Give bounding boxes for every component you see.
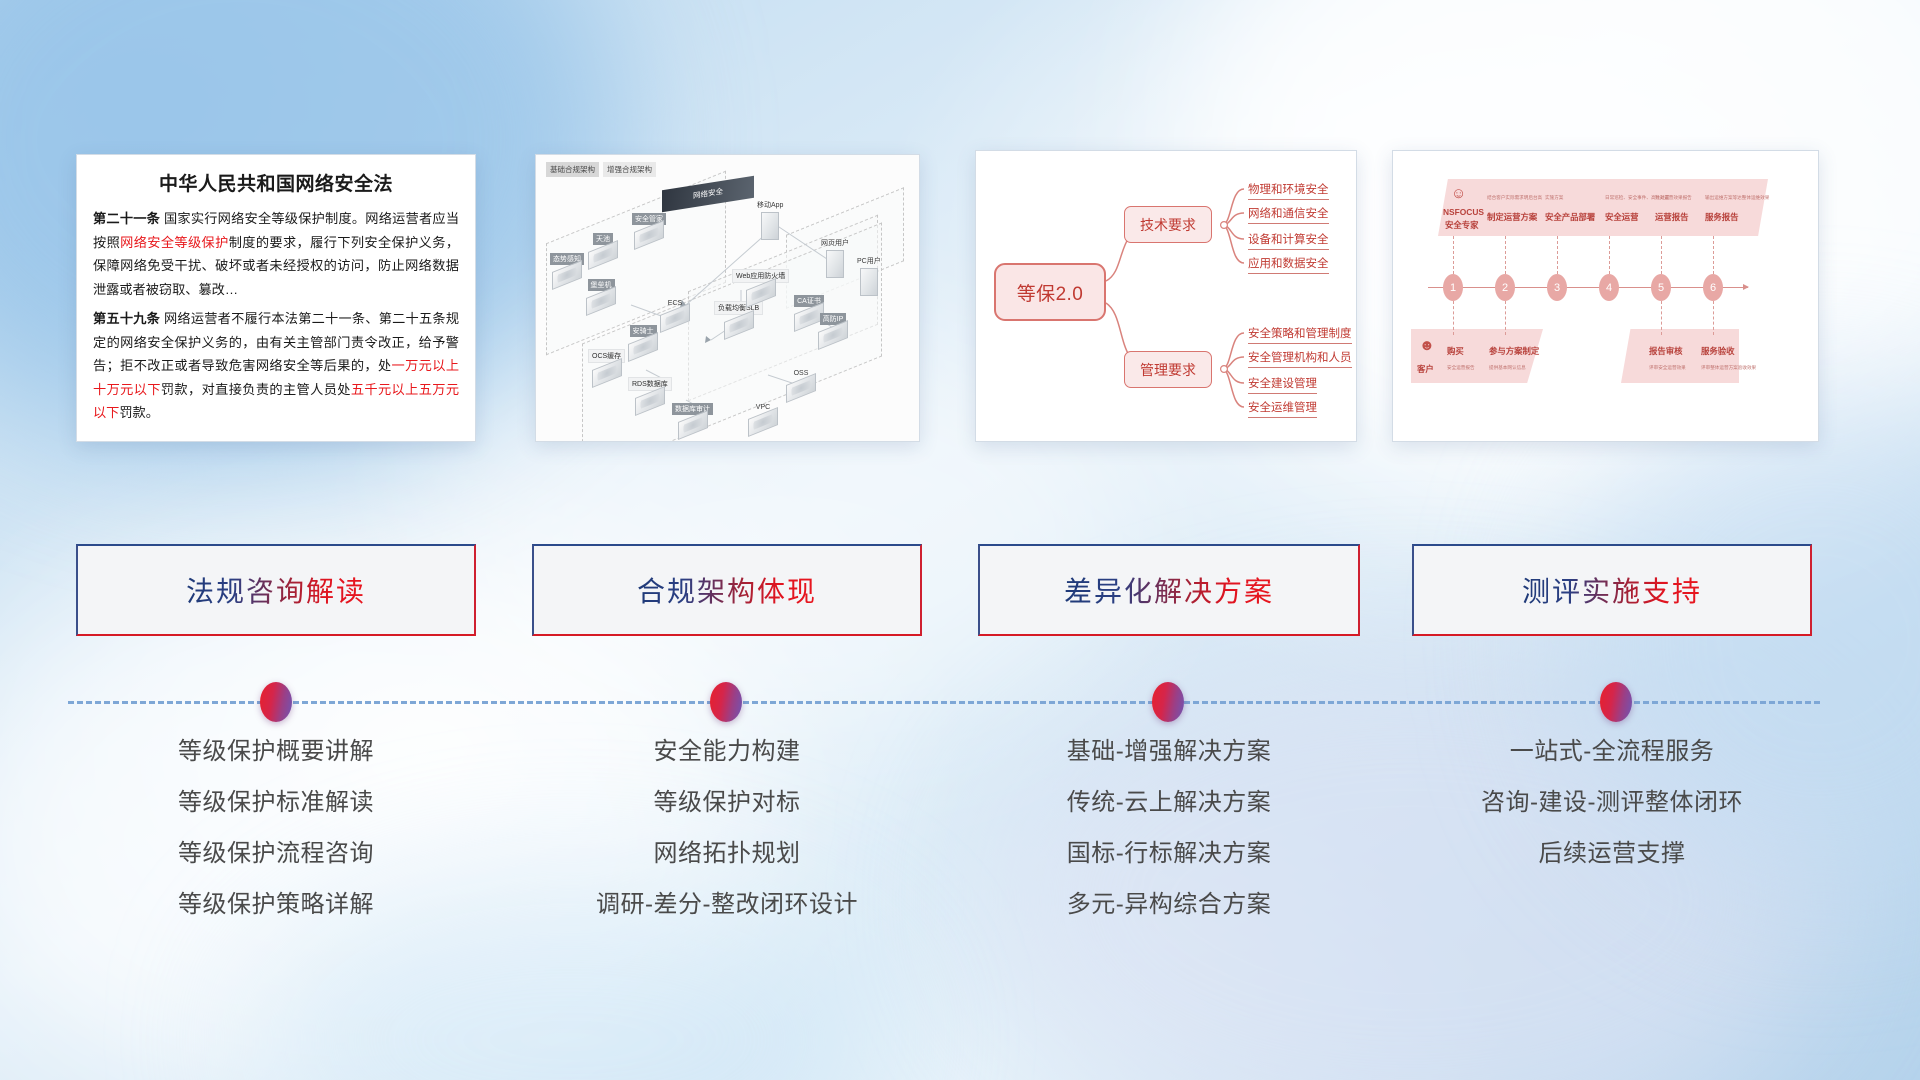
- roadmap-top-label: 制定运营方案: [1487, 211, 1537, 223]
- section-header-4[interactable]: 测评实施支持: [1412, 544, 1812, 636]
- roadmap-bottom-sublabel: 提供基本网认信息: [1489, 365, 1526, 371]
- section-item: 传统-云上解决方案: [978, 791, 1360, 815]
- mindmap-leaf: 安全建设管理: [1248, 375, 1317, 394]
- roadmap-connector: [1505, 301, 1506, 335]
- law-paragraph: 第二十一条 国家实行网络安全等级保护制度。网络运营者应当按照网络安全等级保护制度…: [93, 207, 459, 301]
- roadmap-top-sublabel: 针对运营效果报告: [1655, 195, 1692, 201]
- section-item-list-1: 等级保护概要讲解等级保护标准解读等级保护流程咨询等级保护策略详解: [76, 740, 476, 944]
- roadmap-step-2[interactable]: 2: [1495, 274, 1515, 301]
- section-header-4-label: 测评实施支持: [1522, 570, 1702, 610]
- section-item: 国标-行标解决方案: [978, 842, 1360, 866]
- customer-icon: ☻: [1419, 337, 1435, 354]
- roadmap-top-label: 运营报告: [1655, 211, 1689, 223]
- mindmap-diagram: 等保2.0 技术要求 管理要求 物理和环境安全网络和通信安全设备和计算安全应用和…: [976, 151, 1356, 441]
- architecture-node-label: PC用户: [854, 255, 884, 267]
- mindmap-leaf: 应用和数据安全: [1248, 255, 1329, 274]
- roadmap-top-sublabel: 结合客户实际需求明后台高: [1487, 195, 1542, 201]
- law-text-run: 罚款。: [119, 405, 159, 420]
- law-highlight-run: 网络安全等级保护: [120, 235, 229, 250]
- architecture-node: 天池: [588, 233, 618, 264]
- architecture-node: 堡垒机: [586, 279, 616, 310]
- roadmap-connector: [1453, 236, 1454, 274]
- timeline: [0, 672, 1920, 732]
- roadmap-bottom-label: 报告审核: [1649, 345, 1683, 357]
- section-item: 等级保护对标: [532, 791, 922, 815]
- roadmap-step-3[interactable]: 3: [1547, 274, 1567, 301]
- roadmap-connector: [1453, 301, 1454, 335]
- customer-name: 客户: [1417, 363, 1434, 375]
- architecture-node-label: RDS数据库: [628, 377, 672, 391]
- section-item-list-4: 一站式-全流程服务咨询-建设-测评整体闭环后续运营支撑: [1412, 740, 1812, 893]
- architecture-node: OSS: [786, 369, 816, 397]
- law-preview-card[interactable]: 中华人民共和国网络安全法 第二十一条 国家实行网络安全等级保护制度。网络运营者应…: [76, 154, 476, 442]
- roadmap-connector: [1557, 236, 1558, 274]
- section-header-1[interactable]: 法规咨询解读: [76, 544, 476, 636]
- mindmap-leaf: 安全策略和管理制度: [1248, 325, 1352, 344]
- section-header-2-label: 合规架构体现: [637, 570, 817, 610]
- architecture-node: PC用户: [854, 255, 884, 296]
- section-item-list-3: 基础-增强解决方案传统-云上解决方案国标-行标解决方案多元-异构综合方案: [978, 740, 1360, 944]
- timeline-dot-4[interactable]: [1600, 682, 1632, 722]
- architecture-node: 移动App: [754, 199, 786, 240]
- architecture-tab[interactable]: 基础合规架构: [546, 162, 599, 177]
- server-icon: [826, 250, 844, 278]
- security-expert-icon: ☺: [1451, 185, 1466, 202]
- roadmap-connector: [1609, 236, 1610, 274]
- roadmap-top-label: 服务报告: [1705, 211, 1739, 223]
- section-item: 后续运营支撑: [1412, 842, 1812, 866]
- roadmap-provider-band: [1438, 179, 1768, 236]
- law-paragraph: 第五十九条 网络运营者不履行本法第二十一条、第二十五条规定的网络安全保护义务的，…: [93, 307, 459, 425]
- roadmap-diagram: ☺ NSFOCUS 安全专家 ☻ 客户 123456 结合客户实际需求明后台高制…: [1393, 151, 1818, 441]
- architecture-node: OCS缓存: [588, 349, 625, 382]
- roadmap-bottom-label: 购买: [1447, 345, 1464, 357]
- provider-name-line2: 安全专家: [1445, 219, 1479, 231]
- mindmap-preview-card[interactable]: 等保2.0 技术要求 管理要求 物理和环境安全网络和通信安全设备和计算安全应用和…: [975, 150, 1357, 442]
- section-header-2[interactable]: 合规架构体现: [532, 544, 922, 636]
- law-article-number: 第五十九条: [93, 311, 160, 326]
- roadmap-connector: [1661, 236, 1662, 274]
- roadmap-step-4[interactable]: 4: [1599, 274, 1619, 301]
- mindmap-leaf: 网络和通信安全: [1248, 205, 1329, 224]
- mindmap-collapse-handle: [1221, 222, 1228, 229]
- section-header-1-label: 法规咨询解读: [186, 570, 366, 610]
- law-title: 中华人民共和国网络安全法: [93, 169, 459, 196]
- poster-canvas: 中华人民共和国网络安全法 第二十一条 国家实行网络安全等级保护制度。网络运营者应…: [0, 0, 1920, 1080]
- mindmap-leaf: 安全管理机构和人员: [1248, 349, 1352, 368]
- architecture-node: 数据库审计: [672, 403, 713, 434]
- architecture-node: Web应用防火墙: [732, 269, 789, 302]
- roadmap-bottom-label: 参与方案制定: [1489, 345, 1539, 357]
- mindmap-branch-management: 管理要求: [1124, 351, 1212, 388]
- mindmap-leaf: 设备和计算安全: [1248, 231, 1329, 250]
- architecture-node: 高防IP: [818, 313, 848, 344]
- timeline-dashed-line: [68, 701, 1820, 704]
- section-item: 调研-差分-整改闭环设计: [532, 893, 922, 917]
- section-item: 安全能力构建: [532, 740, 922, 764]
- server-icon: [761, 212, 779, 240]
- architecture-node: VPC: [748, 403, 778, 431]
- architecture-node: 安全管家: [632, 213, 666, 244]
- mindmap-collapse-handle: [1221, 366, 1228, 373]
- roadmap-step-5[interactable]: 5: [1651, 274, 1671, 301]
- roadmap-connector: [1713, 301, 1714, 335]
- architecture-tab[interactable]: 增强合规架构: [603, 162, 656, 177]
- roadmap-bottom-sublabel: 评审整体运营方案验收效果: [1701, 365, 1756, 371]
- roadmap-bottom-sublabel: 安全运营报告: [1447, 365, 1475, 371]
- roadmap-preview-card[interactable]: ☺ NSFOCUS 安全专家 ☻ 客户 123456 结合客户实际需求明后台高制…: [1392, 150, 1819, 442]
- section-header-3[interactable]: 差异化解决方案: [978, 544, 1360, 636]
- architecture-node-label: 网页用户: [818, 237, 852, 249]
- roadmap-top-label: 安全产品部署: [1545, 211, 1595, 223]
- law-text-run: 罚款，对直接负责的主管人员处: [161, 382, 351, 397]
- architecture-node: 态势感知: [550, 253, 584, 284]
- architecture-node: 网页用户: [818, 237, 852, 278]
- provider-name-line1: NSFOCUS: [1443, 207, 1484, 217]
- timeline-dot-2[interactable]: [710, 682, 742, 722]
- preview-card-row: 中华人民共和国网络安全法 第二十一条 国家实行网络安全等级保护制度。网络运营者应…: [0, 0, 1920, 470]
- roadmap-axis: [1428, 287, 1748, 288]
- mindmap-root-node: 等保2.0: [994, 263, 1106, 321]
- roadmap-bottom-sublabel: 评审安全运营效果: [1649, 365, 1686, 371]
- roadmap-step-1[interactable]: 1: [1443, 274, 1463, 301]
- law-article-number: 第二十一条: [93, 211, 160, 226]
- section-item: 等级保护标准解读: [76, 791, 476, 815]
- mindmap-branch-technical: 技术要求: [1124, 206, 1212, 243]
- architecture-preview-card[interactable]: 基础合规架构增强合规架构 网络安全: [535, 154, 920, 442]
- roadmap-connector: [1505, 236, 1506, 274]
- section-item-lists: 等级保护概要讲解等级保护标准解读等级保护流程咨询等级保护策略详解 安全能力构建等…: [0, 740, 1920, 1000]
- section-item: 咨询-建设-测评整体闭环: [1412, 791, 1812, 815]
- architecture-node: 安骑士: [628, 325, 658, 356]
- section-item: 多元-异构综合方案: [978, 893, 1360, 917]
- server-icon: [860, 268, 878, 296]
- architecture-tab-group[interactable]: 基础合规架构增强合规架构: [546, 162, 656, 177]
- roadmap-top-sublabel: 实施方案: [1545, 195, 1563, 201]
- architecture-node-label: 移动App: [754, 199, 786, 211]
- section-item: 一站式-全流程服务: [1412, 740, 1812, 764]
- architecture-node-label: Web应用防火墙: [732, 269, 789, 283]
- timeline-dot-1[interactable]: [260, 682, 292, 722]
- mindmap-leaf: 安全运维管理: [1248, 399, 1317, 418]
- roadmap-connector: [1661, 301, 1662, 335]
- section-header-3-label: 差异化解决方案: [1064, 570, 1274, 610]
- architecture-node: 负载均衡SLB: [714, 301, 763, 334]
- section-item: 等级保护策略详解: [76, 893, 476, 917]
- section-header-row: 法规咨询解读 合规架构体现 差异化解决方案 测评实施支持: [0, 544, 1920, 648]
- law-body: 中华人民共和国网络安全法 第二十一条 国家实行网络安全等级保护制度。网络运营者应…: [77, 155, 475, 441]
- architecture-diagram: 基础合规架构增强合规架构 网络安全: [536, 155, 919, 441]
- section-item: 基础-增强解决方案: [978, 740, 1360, 764]
- section-item: 网络拓扑规划: [532, 842, 922, 866]
- section-item: 等级保护概要讲解: [76, 740, 476, 764]
- architecture-node: ECS: [660, 299, 690, 327]
- section-item: 等级保护流程咨询: [76, 842, 476, 866]
- roadmap-step-6[interactable]: 6: [1703, 274, 1723, 301]
- mindmap-leaf: 物理和环境安全: [1248, 181, 1329, 200]
- architecture-node: RDS数据库: [628, 377, 672, 410]
- section-item-list-2: 安全能力构建等级保护对标网络拓扑规划调研-差分-整改闭环设计: [532, 740, 922, 944]
- law-paragraph-list: 第二十一条 国家实行网络安全等级保护制度。网络运营者应当按照网络安全等级保护制度…: [93, 207, 459, 425]
- timeline-dot-3[interactable]: [1152, 682, 1184, 722]
- roadmap-top-sublabel: 输出运维方案等达整体运维效果: [1705, 195, 1769, 201]
- roadmap-top-label: 安全运营: [1605, 211, 1639, 223]
- roadmap-bottom-label: 服务验收: [1701, 345, 1735, 357]
- roadmap-connector: [1713, 236, 1714, 274]
